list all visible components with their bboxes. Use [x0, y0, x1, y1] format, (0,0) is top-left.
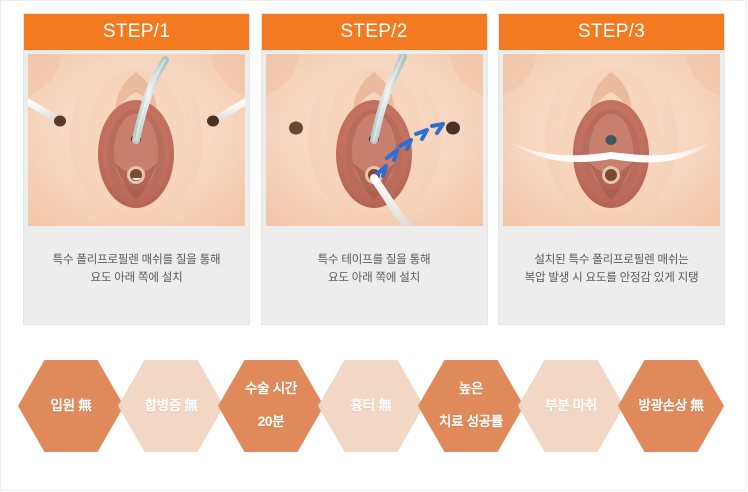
- benefit-hex-4[interactable]: 흉터 無: [318, 360, 424, 452]
- benefit-hex-7-line1: 방광손상 無: [632, 398, 709, 415]
- step-caption-2: 특수 테이프를 질을 통해 요도 아래 쪽에 설치: [262, 226, 487, 324]
- benefit-hex-6-line1: 부분 마취: [539, 398, 603, 415]
- benefit-hex-4-line1: 흉터 無: [345, 398, 398, 415]
- benefit-hex-2-line1: 합병증 無: [138, 398, 203, 415]
- step-caption-3: 설치된 특수 폴리프로필렌 매쉬는 복압 발생 시 요도를 안정감 있게 지탱: [499, 226, 724, 324]
- benefit-hex-1-line1: 입원 無: [45, 398, 98, 415]
- step-header-1: STEP/1: [24, 14, 249, 50]
- benefit-hex-3-line2: 20분: [239, 414, 303, 431]
- benefit-hex-2[interactable]: 합병증 無: [118, 360, 224, 452]
- step-header-3: STEP/3: [499, 14, 724, 50]
- step-card-1[interactable]: STEP/1: [24, 14, 249, 324]
- step-header-2: STEP/2: [262, 14, 487, 50]
- benefit-hex-5-line1: 높은: [433, 381, 509, 398]
- step-caption-1-line1: 특수 폴리프로필렌 매쉬를 질을 통해: [53, 252, 221, 270]
- benefit-hex-3[interactable]: 수술 시간20분: [218, 360, 324, 452]
- step1-illustration: [28, 54, 245, 226]
- step3-illustration: [503, 54, 720, 226]
- steps-row: STEP/1: [24, 14, 724, 324]
- benefits-hex-row: 입원 無 합병증 無 수술 시간20분 흉터 無 높은치료 성공률 부분 마취 …: [18, 360, 734, 452]
- benefit-hex-1[interactable]: 입원 無: [18, 360, 124, 452]
- benefit-hex-6[interactable]: 부분 마취: [518, 360, 624, 452]
- step-caption-1-line2: 요도 아래 쪽에 설치: [53, 270, 221, 288]
- step-card-3[interactable]: STEP/3: [499, 14, 724, 324]
- benefit-hex-3-line1: 수술 시간: [239, 381, 303, 398]
- step-caption-1: 특수 폴리프로필렌 매쉬를 질을 통해 요도 아래 쪽에 설치: [24, 226, 249, 324]
- benefit-hex-7[interactable]: 방광손상 無: [618, 360, 724, 452]
- step-caption-3-line2: 복압 발생 시 요도를 안정감 있게 지탱: [525, 270, 699, 288]
- step3-anatomy-svg: [503, 54, 720, 226]
- step-caption-2-line1: 특수 테이프를 질을 통해: [318, 252, 431, 270]
- step2-anatomy-svg: [266, 54, 483, 226]
- benefit-hex-5-line2: 치료 성공률: [433, 414, 509, 431]
- step-card-2[interactable]: STEP/2: [262, 14, 487, 324]
- step2-illustration: [266, 54, 483, 226]
- benefit-hex-5[interactable]: 높은치료 성공률: [418, 360, 524, 452]
- step-caption-2-line2: 요도 아래 쪽에 설치: [318, 270, 431, 288]
- step-caption-3-line1: 설치된 특수 폴리프로필렌 매쉬는: [525, 252, 699, 270]
- step1-anatomy-svg: [28, 54, 245, 226]
